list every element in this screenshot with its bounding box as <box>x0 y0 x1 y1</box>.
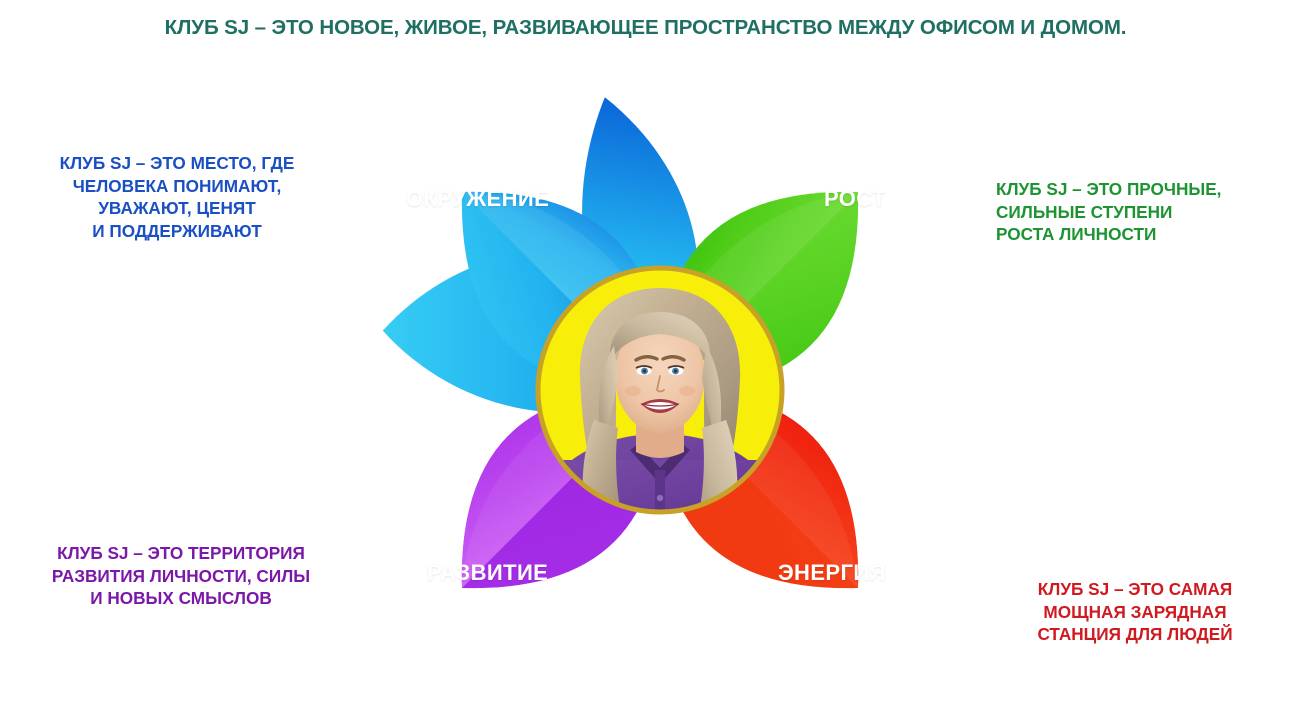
caption-growth: КЛУБ SJ – ЭТО ПРОЧНЫЕ, СИЛЬНЫЕ СТУПЕНИ Р… <box>996 178 1278 246</box>
caption-environment: КЛУБ SJ – ЭТО МЕСТО, ГДЕ ЧЕЛОВЕКА ПОНИМА… <box>22 152 332 243</box>
caption-energy: КЛУБ SJ – ЭТО САМАЯ МОЩНАЯ ЗАРЯДНАЯ СТАН… <box>992 578 1278 646</box>
page-title: КЛУБ SJ – ЭТО НОВОЕ, ЖИВОЕ, РАЗВИВАЮЩЕЕ … <box>0 16 1291 40</box>
infographic-canvas: КЛУБ SJ – ЭТО НОВОЕ, ЖИВОЕ, РАЗВИВАЮЩЕЕ … <box>0 0 1291 727</box>
flower-diagram <box>330 60 990 720</box>
caption-development: КЛУБ SJ – ЭТО ТЕРРИТОРИЯ РАЗВИТИЯ ЛИЧНОС… <box>28 542 334 610</box>
